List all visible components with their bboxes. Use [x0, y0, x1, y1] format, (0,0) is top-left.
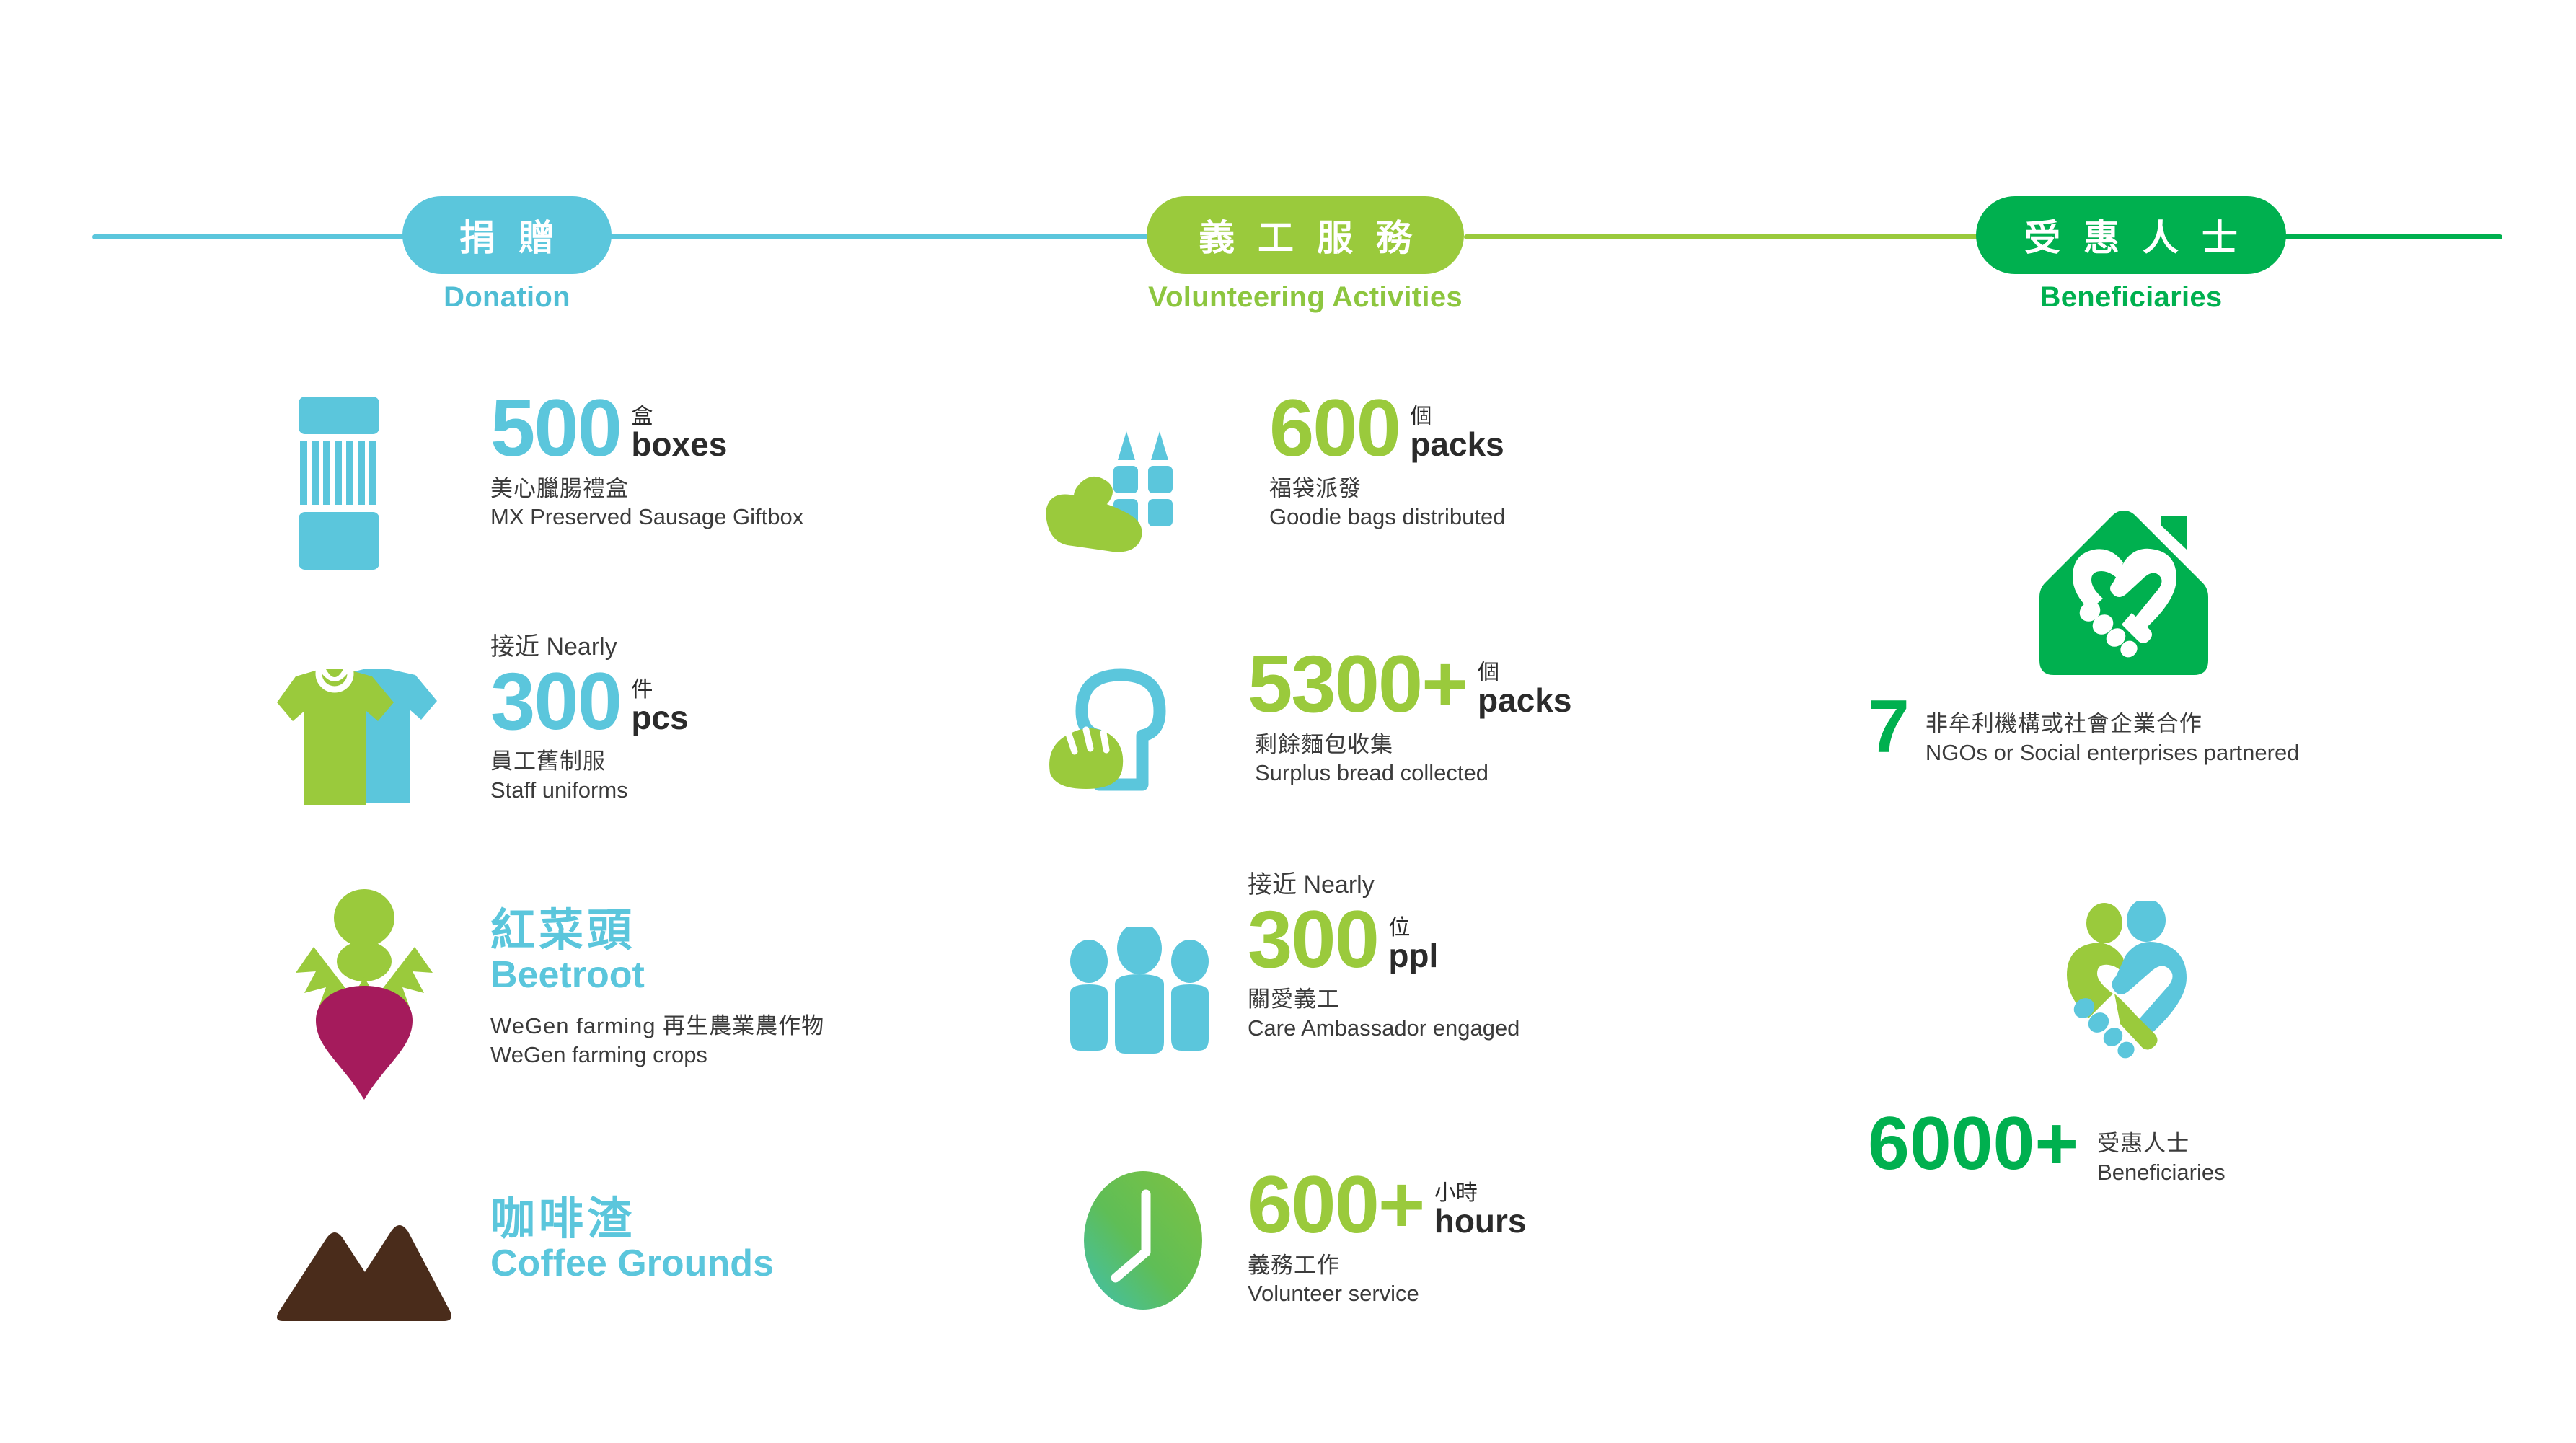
stat-unit-zh: 個	[1410, 406, 1504, 428]
rule-segment-4	[2279, 234, 2502, 239]
stat-desc-en: Volunteer service	[1248, 1279, 1527, 1308]
stat-text: 600 個 packs 福袋派發 Goodie bags distributed	[1269, 393, 1505, 531]
stat-number: 600	[1269, 393, 1400, 464]
rule-segment-3	[1464, 234, 1983, 239]
header-band: 捐 贈 Donation 義 工 服 務 Volunteering Activi…	[0, 0, 2576, 144]
stat-desc-zh: 美心臘腸禮盒	[490, 475, 803, 503]
people-group-icon	[1060, 927, 1219, 1060]
stat-desc-zh: 受惠人士	[2097, 1129, 2225, 1158]
stat-desc-en: Surplus bread collected	[1255, 759, 1571, 787]
section-pill-donation[interactable]: 捐 贈	[402, 196, 612, 274]
stat-text: 接近 Nearly 300 位 ppl 關愛義工 Care Ambassador…	[1248, 873, 1519, 1043]
rule-segment-1	[92, 234, 410, 239]
stat-unit-en: pcs	[631, 701, 688, 734]
bread-icon	[1046, 656, 1212, 797]
stat-unit-en: hours	[1434, 1204, 1527, 1237]
stat-desc-zh: 員工舊制服	[490, 747, 689, 776]
stat-number: 5300+	[1248, 649, 1468, 720]
stat-text: 5300+ 個 packs 剩餘麵包收集 Surplus bread colle…	[1248, 649, 1571, 787]
stat-text: 7 非牟利機構或社會企業合作 NGOs or Social enterprise…	[1868, 694, 2299, 768]
stat-desc-en: NGOs or Social enterprises partnered	[1926, 738, 2300, 767]
stat-unit-zh: 件	[631, 679, 688, 701]
stat-number: 300	[490, 666, 621, 738]
stat-unit-en: packs	[1478, 684, 1571, 717]
stat-text: 接近 Nearly 300 件 pcs 員工舊制服 Staff uniforms	[490, 635, 689, 805]
stat-desc-en: Staff uniforms	[490, 776, 689, 805]
stat-unit-en: packs	[1410, 428, 1504, 461]
tshirt-icon	[274, 669, 440, 810]
impact-infographic: 捐 贈 Donation 義 工 服 務 Volunteering Activi…	[0, 0, 2576, 1443]
house-handshake-icon	[2034, 505, 2214, 681]
stat-unit-en: ppl	[1388, 939, 1438, 972]
stat-desc-en: Beneficiaries	[2097, 1158, 2225, 1187]
stat-number: 6000+	[1868, 1111, 2078, 1178]
section-subtitle-donation: Donation	[374, 281, 640, 314]
stat-number: 600+	[1248, 1170, 1424, 1241]
stat-desc-zh: 剩餘麵包收集	[1255, 731, 1571, 759]
stat-desc-zh: 福袋派發	[1269, 475, 1505, 503]
stat-text: 咖啡渣 Coffee Grounds	[490, 1196, 774, 1284]
stat-word-zh: 紅菜頭	[490, 907, 824, 954]
section-subtitle-beneficiaries: Beneficiaries	[1926, 281, 2337, 314]
section-subtitle-volunteering: Volunteering Activities	[1096, 281, 1514, 314]
beetroot-icon	[274, 883, 454, 1103]
stat-word-en: Coffee Grounds	[490, 1243, 774, 1284]
stat-unit-zh: 個	[1478, 662, 1571, 684]
section-pill-volunteering[interactable]: 義 工 服 務	[1147, 196, 1464, 274]
stat-desc-en: MX Preserved Sausage Giftbox	[490, 503, 803, 531]
stat-word-zh: 咖啡渣	[490, 1196, 774, 1243]
stat-desc-en: WeGen farming crops	[490, 1041, 824, 1069]
stat-unit-zh: 盒	[631, 406, 727, 428]
giftbox-icon	[296, 397, 382, 573]
section-pill-beneficiaries[interactable]: 受 惠 人 士	[1976, 196, 2286, 274]
stat-number: 7	[1868, 694, 1910, 762]
stat-desc-en: Goodie bags distributed	[1269, 503, 1505, 531]
stat-desc-zh: WeGen farming 再生農業農作物	[490, 1012, 824, 1041]
stat-text: 紅菜頭 Beetroot WeGen farming 再生農業農作物 WeGen…	[490, 907, 824, 1069]
stat-desc-zh: 非牟利機構或社會企業合作	[1926, 710, 2300, 738]
stat-text: 6000+ 受惠人士 Beneficiaries	[1868, 1111, 2226, 1188]
stat-unit-en: boxes	[631, 428, 727, 461]
handshake-heart-icon	[2034, 901, 2214, 1071]
clock-icon	[1071, 1168, 1215, 1316]
stat-word-en: Beetroot	[490, 954, 824, 996]
stat-number: 300	[1248, 904, 1378, 976]
stat-text: 500 盒 boxes 美心臘腸禮盒 MX Preserved Sausage …	[490, 393, 803, 531]
hand-gift-icon	[1038, 411, 1212, 559]
stat-desc-zh: 關愛義工	[1248, 985, 1519, 1014]
stat-desc-zh: 義務工作	[1248, 1251, 1527, 1280]
stat-desc-en: Care Ambassador engaged	[1248, 1014, 1519, 1043]
stat-unit-zh: 位	[1388, 917, 1438, 939]
stat-unit-zh: 小時	[1434, 1183, 1527, 1204]
stat-text: 600+ 小時 hours 義務工作 Volunteer service	[1248, 1170, 1527, 1308]
coffee-grounds-icon	[274, 1197, 454, 1331]
rule-segment-2	[606, 234, 1154, 239]
stat-number: 500	[490, 393, 621, 464]
